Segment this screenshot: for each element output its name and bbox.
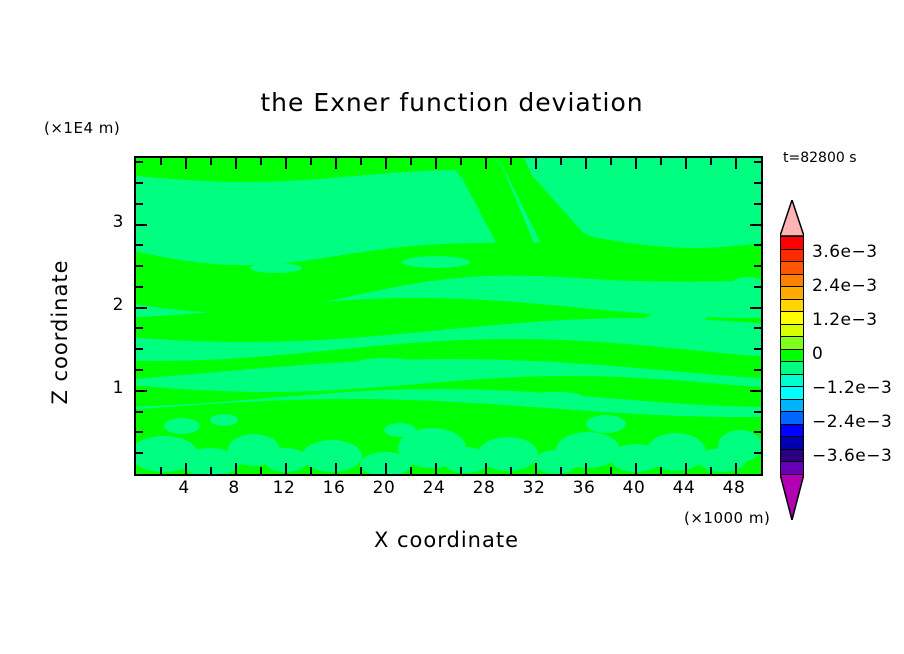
y-axis-tick — [136, 307, 147, 309]
y-axis-tick-right — [754, 203, 761, 205]
x-axis-tick-top — [185, 158, 187, 169]
x-axis-tick — [235, 463, 237, 474]
colorbar-band — [780, 311, 804, 325]
y-axis-tick-right — [750, 390, 761, 392]
x-axis-tick — [710, 467, 712, 474]
x-axis-unit-label: (×1000 m) — [684, 509, 770, 527]
colorbar-band — [780, 399, 804, 413]
x-axis-title: X coordinate — [134, 528, 759, 552]
colorbar-tick-label: 2.4e−3 — [812, 276, 878, 296]
x-axis-tick-top — [710, 158, 712, 165]
x-axis-tick-label: 32 — [514, 478, 554, 498]
x-axis-tick-label: 48 — [714, 478, 754, 498]
colorbar-band — [780, 374, 804, 388]
x-axis-tick-label: 16 — [314, 478, 354, 498]
y-axis-tick-right — [754, 348, 761, 350]
x-axis-tick-top — [160, 158, 162, 165]
x-axis-tick — [735, 463, 737, 474]
colorbar-band — [780, 261, 804, 275]
colorbar-band — [780, 249, 804, 263]
x-axis-tick — [460, 467, 462, 474]
x-axis-tick-top — [560, 158, 562, 165]
colorbar-under-cap — [780, 474, 804, 520]
y-axis-tick-right — [754, 452, 761, 454]
x-axis-tick — [510, 467, 512, 474]
contour-sliver-negative — [402, 256, 470, 268]
x-axis-tick-label: 20 — [364, 478, 404, 498]
x-axis-tick — [585, 463, 587, 474]
x-axis-tick — [360, 467, 362, 474]
x-axis-tick — [210, 467, 212, 474]
x-axis-tick-top — [535, 158, 537, 169]
x-axis-tick-top — [635, 158, 637, 169]
x-axis-tick-top — [235, 158, 237, 169]
colorbar-tick-label: 1.2e−3 — [812, 310, 878, 330]
contour-sliver-negative — [646, 312, 706, 324]
y-axis-tick-right — [754, 286, 761, 288]
y-axis-tick-right — [754, 431, 761, 433]
x-axis-tick-label: 4 — [164, 478, 204, 498]
y-axis-tick — [136, 224, 147, 226]
contour-blob-negative — [164, 418, 200, 434]
contour-field — [136, 158, 761, 474]
x-axis-tick-label: 40 — [614, 478, 654, 498]
x-axis-tick-top — [210, 158, 212, 165]
colorbar-band — [780, 286, 804, 300]
x-axis-tick-top — [285, 158, 287, 169]
colorbar-band — [780, 449, 804, 463]
x-axis-tick-label: 36 — [564, 478, 604, 498]
x-axis-tick-top — [660, 158, 662, 165]
x-axis-tick — [410, 467, 412, 474]
y-axis-tick — [136, 244, 143, 246]
chart-title: the Exner function deviation — [0, 88, 904, 117]
x-axis-tick-top — [410, 158, 412, 165]
y-axis-tick-right — [754, 244, 761, 246]
colorbar-tick-label: −2.4e−3 — [812, 412, 892, 432]
y-axis-tick-right — [754, 161, 761, 163]
x-axis-tick-label: 12 — [264, 478, 304, 498]
y-axis-tick — [136, 390, 147, 392]
contour-blob-negative — [556, 432, 620, 468]
colorbar-band — [780, 236, 804, 250]
x-axis-tick-top — [610, 158, 612, 165]
colorbar-band — [780, 361, 804, 375]
plot-area — [134, 156, 763, 476]
x-axis-tick — [335, 463, 337, 474]
colorbar-band — [780, 324, 804, 338]
colorbar-band — [780, 436, 804, 450]
y-axis-tick — [136, 203, 143, 205]
x-axis-tick — [635, 463, 637, 474]
x-axis-tick — [285, 463, 287, 474]
y-axis-tick-right — [754, 182, 761, 184]
contour-sliver-negative — [530, 392, 582, 400]
colorbar-tick-label: −1.2e−3 — [812, 378, 892, 398]
x-axis-tick-top — [585, 158, 587, 169]
y-axis-tick-label: 1 — [98, 378, 124, 398]
colorbar-tick-label: 0 — [812, 344, 823, 364]
contour-sliver-negative — [250, 263, 302, 273]
x-axis-tick-top — [460, 158, 462, 165]
contour-blob-negative — [478, 437, 538, 471]
x-axis-tick-top — [260, 158, 262, 165]
x-axis-tick-top — [360, 158, 362, 165]
x-axis-tick — [660, 467, 662, 474]
x-axis-tick-top — [685, 158, 687, 169]
x-axis-tick — [685, 463, 687, 474]
y-axis-tick — [136, 411, 143, 413]
y-axis-tick-right — [754, 265, 761, 267]
chart-canvas: the Exner function deviation (×1E4 m) (×… — [0, 0, 904, 654]
colorbar-band — [780, 386, 804, 400]
colorbar-band — [780, 336, 804, 350]
x-axis-tick — [160, 467, 162, 474]
colorbar-band — [780, 424, 804, 438]
colorbar-tick-label: 3.6e−3 — [812, 242, 878, 262]
y-axis-tick — [136, 369, 143, 371]
colorbar-band — [780, 349, 804, 363]
contour-blob-negative — [384, 423, 416, 437]
x-axis-tick — [610, 467, 612, 474]
x-axis-tick-top — [485, 158, 487, 169]
colorbar-band — [780, 461, 804, 475]
contour-blob-negative — [586, 415, 626, 433]
x-axis-tick — [535, 463, 537, 474]
y-axis-tick-right — [750, 307, 761, 309]
x-axis-tick-label: 44 — [664, 478, 704, 498]
contour-blob-negative — [210, 414, 238, 426]
x-axis-tick-top — [435, 158, 437, 169]
x-axis-tick-label: 28 — [464, 478, 504, 498]
y-axis-unit-label: (×1E4 m) — [44, 119, 120, 137]
colorbar-over-cap — [780, 200, 804, 236]
colorbar-tick-label: −3.6e−3 — [812, 446, 892, 466]
y-axis-tick — [136, 161, 143, 163]
y-axis-tick-label: 2 — [98, 295, 124, 315]
y-axis-tick — [136, 452, 143, 454]
time-annotation: t=82800 s — [783, 150, 857, 166]
x-axis-tick — [385, 463, 387, 474]
contour-blob-negative — [646, 433, 706, 471]
x-axis-tick-top — [385, 158, 387, 169]
x-axis-tick-top — [335, 158, 337, 169]
x-axis-tick-label: 24 — [414, 478, 454, 498]
y-axis-tick — [136, 265, 143, 267]
x-axis-tick-top — [510, 158, 512, 165]
x-axis-tick — [185, 463, 187, 474]
x-axis-tick — [560, 467, 562, 474]
x-axis-tick — [310, 467, 312, 474]
contour-sliver-negative — [356, 358, 416, 368]
y-axis-tick-label: 3 — [98, 212, 124, 232]
contour-blob-negative — [718, 430, 761, 462]
y-axis-tick-right — [750, 224, 761, 226]
colorbar — [780, 236, 804, 474]
y-axis-tick — [136, 431, 143, 433]
x-axis-tick — [435, 463, 437, 474]
y-axis-tick-right — [754, 369, 761, 371]
colorbar-band — [780, 299, 804, 313]
y-axis-title: Z coordinate — [48, 212, 72, 452]
y-axis-tick — [136, 327, 143, 329]
x-axis-tick-top — [310, 158, 312, 165]
y-axis-tick-right — [754, 327, 761, 329]
colorbar-band — [780, 274, 804, 288]
x-axis-tick-top — [735, 158, 737, 169]
colorbar-band — [780, 411, 804, 425]
x-axis-tick-label: 8 — [214, 478, 254, 498]
x-axis-tick — [485, 463, 487, 474]
y-axis-tick-right — [754, 411, 761, 413]
y-axis-tick — [136, 182, 143, 184]
x-axis-tick — [260, 467, 262, 474]
y-axis-tick — [136, 348, 143, 350]
y-axis-tick — [136, 286, 143, 288]
